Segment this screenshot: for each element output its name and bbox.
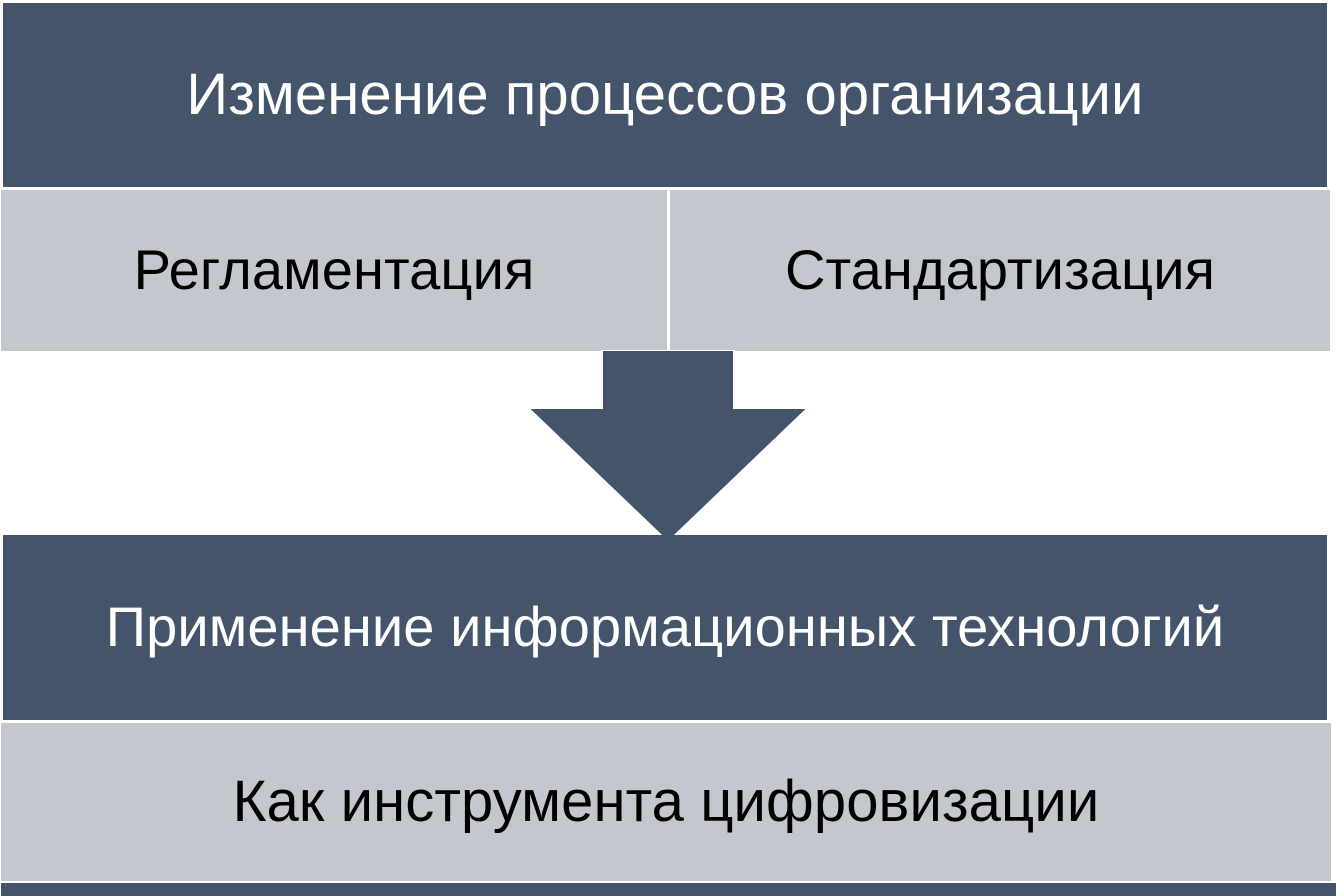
regulation-box[interactable]: Регламентация (1, 190, 667, 351)
down-arrow-icon (520, 350, 816, 546)
bottom-accent-strip (1, 883, 1336, 896)
digitalization-tool-label: Как инструмента цифровизации (233, 772, 1100, 833)
process-change-box[interactable]: Изменение процессов организации (3, 3, 1327, 187)
regulation-label: Регламентация (134, 241, 535, 300)
it-application-label: Применение информационных технологий (106, 598, 1225, 657)
digitalization-tool-box[interactable]: Как инструмента цифровизации (1, 723, 1331, 881)
diagram-canvas: Изменение процессов организации Регламен… (0, 0, 1336, 896)
it-application-box[interactable]: Применение информационных технологий (3, 535, 1327, 720)
process-change-label: Изменение процессов организации (186, 65, 1143, 126)
standardization-label: Стандартизация (785, 241, 1215, 300)
standardization-box[interactable]: Стандартизация (670, 190, 1330, 351)
